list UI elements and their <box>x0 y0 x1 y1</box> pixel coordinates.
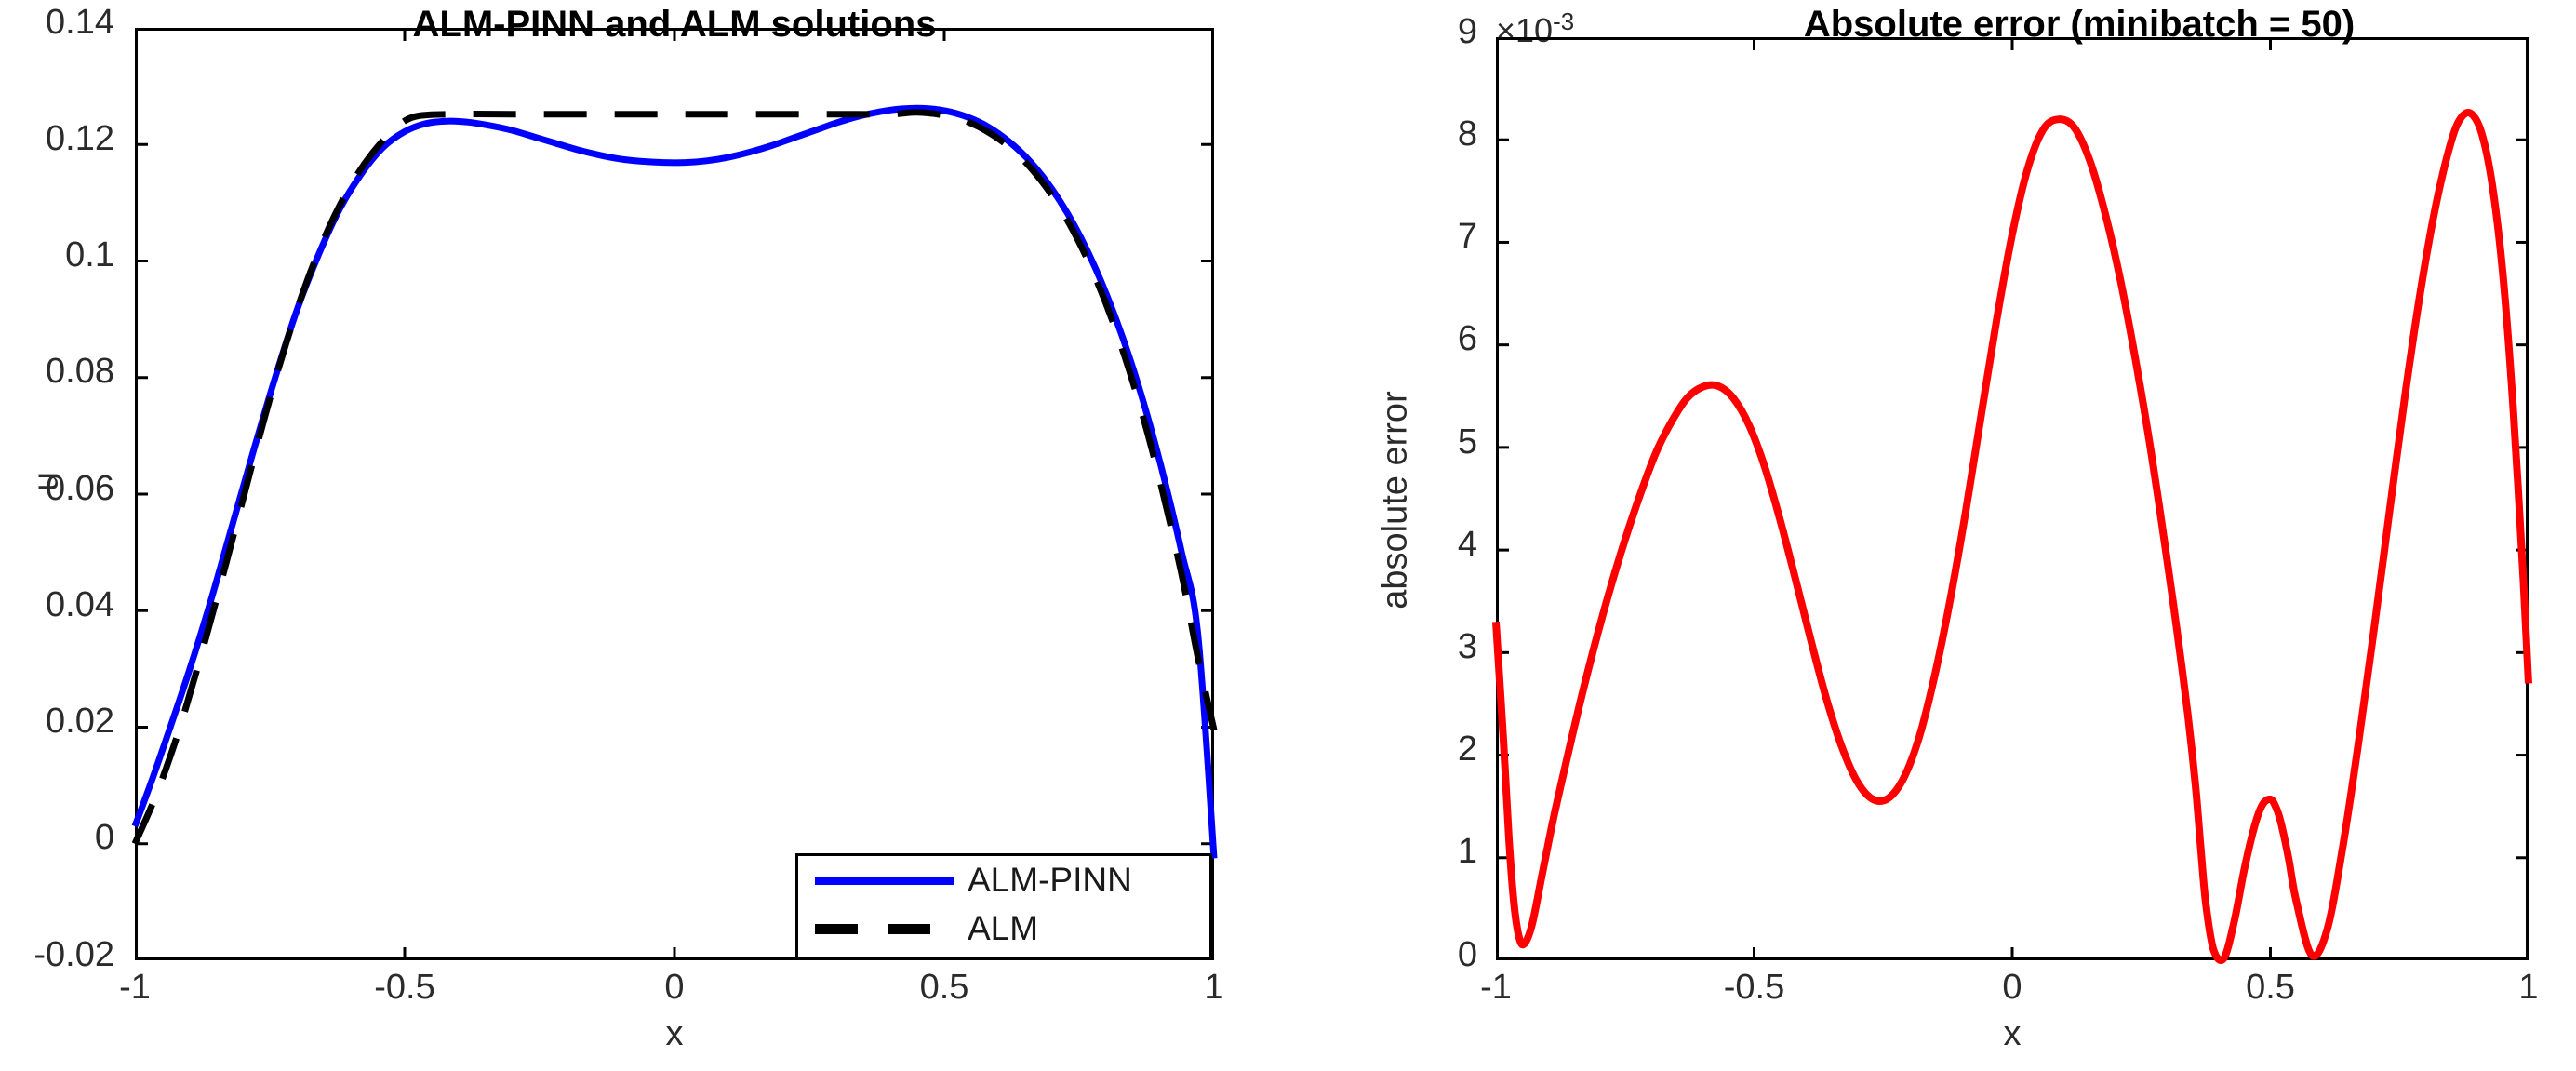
curve-alm-pinn <box>135 108 1214 858</box>
right-plot-curve <box>1302 0 2576 1071</box>
left-y-tick-label: 0.1 <box>0 235 114 275</box>
right-y-tick-label: 2 <box>1161 730 1477 770</box>
right-x-tick-label: -0.5 <box>1662 968 1848 1008</box>
left-y-tick-label: 0 <box>0 818 114 858</box>
left-y-tick-label: 0.08 <box>0 352 114 392</box>
right-x-axis-label: x <box>1938 1014 2087 1054</box>
figure-canvas: ALM-PINN and ALM solutions u x ALM-PINN … <box>0 0 2576 1071</box>
right-y-axis-label: absolute error <box>1376 342 1416 659</box>
right-y-tick-label: 4 <box>1161 525 1477 565</box>
right-y-tick-label: 7 <box>1161 217 1477 257</box>
right-y-tick-label: 6 <box>1161 319 1477 359</box>
right-x-tick-label: -1 <box>1403 968 1589 1008</box>
right-x-tick-label: 0 <box>1919 968 2105 1008</box>
left-x-tick-label: 0 <box>581 968 767 1008</box>
right-y-tick-label: 8 <box>1161 114 1477 154</box>
legend-label-alm-pinn: ALM-PINN <box>968 861 1132 900</box>
left-y-tick-label: 0.04 <box>0 585 114 625</box>
left-y-tick-label: 0.12 <box>0 119 114 159</box>
right-x-tick-label: 0.5 <box>2178 968 2364 1008</box>
right-plot-panel: ×10-3 Absolute error (minibatch = 50) ab… <box>1302 0 2576 1071</box>
left-x-axis-label: x <box>600 1014 749 1054</box>
right-y-tick-label: 3 <box>1161 627 1477 667</box>
right-x-tick-label: 1 <box>2436 968 2576 1008</box>
curve-alm <box>135 113 1214 844</box>
right-y-tick-label: 5 <box>1161 422 1477 462</box>
left-y-tick-label: 0.14 <box>0 3 114 43</box>
right-y-tick-label: 9 <box>1161 12 1477 52</box>
left-x-tick-label: -1 <box>42 968 228 1008</box>
legend-item-alm-pinn[interactable]: ALM-PINN <box>798 856 1209 904</box>
curve-absolute-error <box>1496 113 2529 960</box>
left-x-tick-label: -0.5 <box>312 968 498 1008</box>
legend-swatch-dashed-line <box>815 910 954 947</box>
legend-label-alm: ALM <box>968 909 1038 948</box>
left-plot-legend[interactable]: ALM-PINN ALM <box>795 853 1212 959</box>
left-plot-panel: ALM-PINN and ALM solutions u x ALM-PINN … <box>0 0 1302 1071</box>
legend-swatch-solid-line <box>815 862 954 899</box>
left-y-tick-label: 0.02 <box>0 702 114 742</box>
legend-item-alm[interactable]: ALM <box>798 904 1209 953</box>
left-x-tick-label: 0.5 <box>851 968 1037 1008</box>
right-y-tick-label: 1 <box>1161 832 1477 872</box>
left-y-tick-label: 0.06 <box>0 469 114 509</box>
